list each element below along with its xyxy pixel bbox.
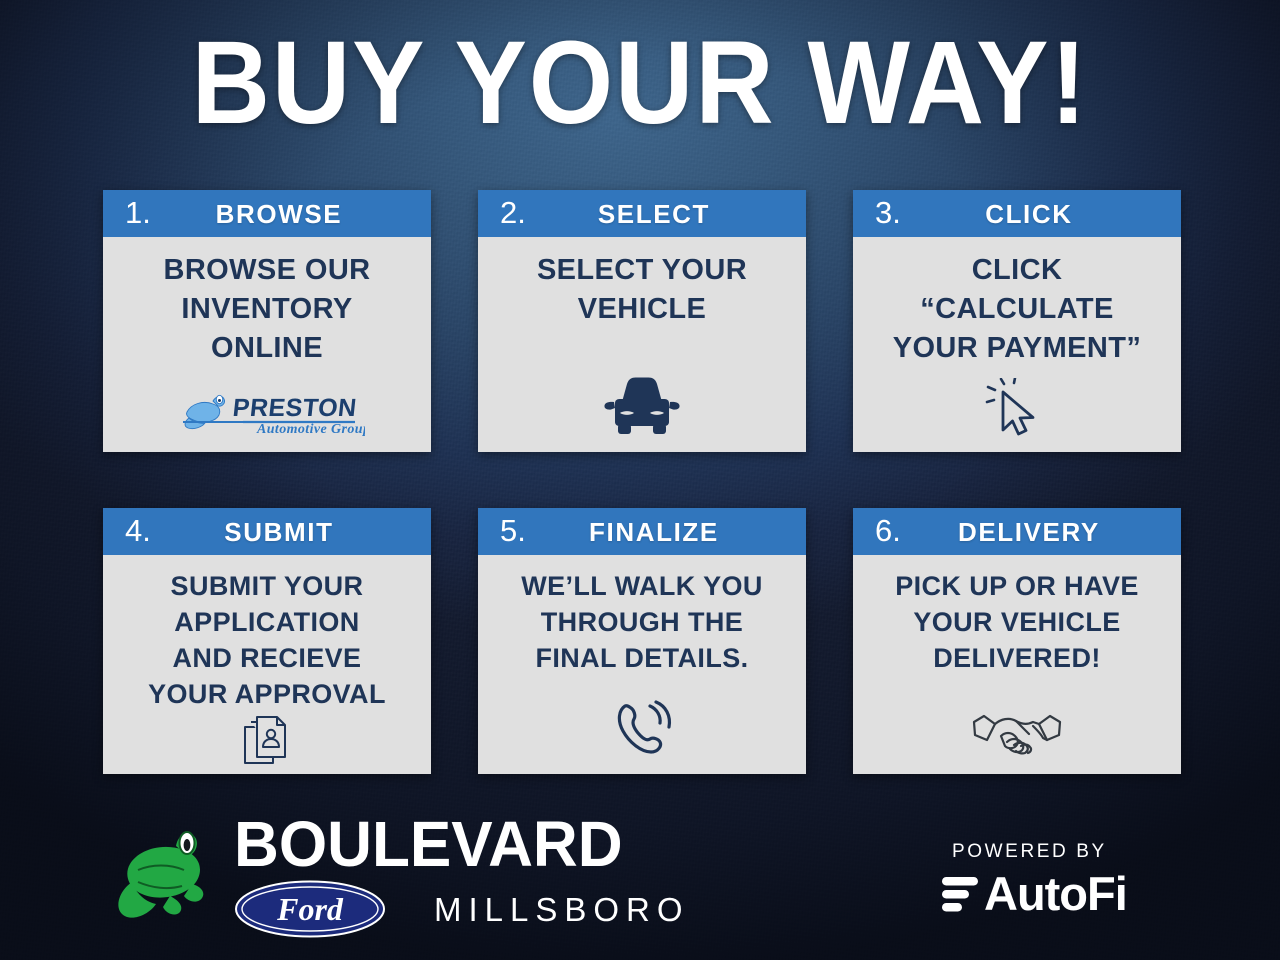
powered-by-label: POWERED BY — [952, 842, 1190, 861]
step-card-6-text: PICK UP OR HAVE YOUR VEHICLE DELIVERED! — [895, 569, 1139, 677]
dealer-city: MILLSBORO — [434, 893, 690, 926]
preston-automotive-group-logo: PRESTON Automotive Group — [169, 388, 365, 438]
step-card-5-graphic — [490, 698, 794, 760]
step-card-1: 1. BROWSE BROWSE OUR INVENTORY ONLINE — [103, 190, 431, 452]
step-card-3-text: CLICK “CALCULATE YOUR PAYMENT” — [893, 251, 1142, 368]
step-card-1-label: BROWSE — [151, 201, 421, 227]
application-document-icon — [239, 713, 295, 767]
step-card-2-graphic — [490, 372, 794, 438]
step-card-3: 3. CLICK CLICK “CALCULATE YOUR PAYMENT” — [853, 190, 1181, 452]
step-card-3-number: 3. — [875, 197, 901, 228]
autofi-wordmark: AutoFi — [984, 870, 1127, 917]
svg-text:PRESTON: PRESTON — [231, 394, 358, 422]
step-card-4-number: 4. — [125, 515, 151, 546]
step-card-4-header: 4. SUBMIT — [103, 508, 431, 555]
step-card-4-graphic — [115, 713, 419, 767]
step-card-2-label: SELECT — [526, 201, 796, 227]
step-card-3-body: CLICK “CALCULATE YOUR PAYMENT” — [853, 237, 1181, 452]
step-card-1-body: BROWSE OUR INVENTORY ONLINE PRES — [103, 237, 431, 452]
step-card-5-body: WE’LL WALK YOU THROUGH THE FINAL DETAILS… — [478, 555, 806, 774]
footer: BOULEVARD Ford MILLSBORO POWERED BY — [0, 806, 1280, 960]
step-card-5-label: FINALIZE — [526, 519, 796, 545]
step-card-4: 4. SUBMIT SUBMIT YOUR APPLICATION AND RE… — [103, 508, 431, 774]
click-cursor-icon — [983, 378, 1051, 438]
dealer-logo-block: BOULEVARD Ford MILLSBORO — [108, 814, 690, 938]
step-card-4-body: SUBMIT YOUR APPLICATION AND RECIEVE YOUR… — [103, 555, 431, 774]
step-card-6-header: 6. DELIVERY — [853, 508, 1181, 555]
car-icon — [600, 372, 684, 438]
handshake-icon — [971, 704, 1063, 760]
step-card-2: 2. SELECT SELECT YOUR VEHICLE — [478, 190, 806, 452]
autofi-logo: AutoFi — [940, 870, 1190, 917]
step-card-5-number: 5. — [500, 515, 526, 546]
page-title: BUY YOUR WAY! — [51, 28, 1229, 138]
dealer-subrow: Ford MILLSBORO — [234, 880, 690, 938]
svg-text:Automotive Group: Automotive Group — [256, 422, 365, 437]
step-card-3-header: 3. CLICK — [853, 190, 1181, 237]
powered-by-autofi-block: POWERED BY AutoFi — [940, 842, 1190, 917]
step-card-6-body: PICK UP OR HAVE YOUR VEHICLE DELIVERED! — [853, 555, 1181, 774]
step-card-5: 5. FINALIZE WE’LL WALK YOU THROUGH THE F… — [478, 508, 806, 774]
dealer-name: BOULEVARD — [234, 814, 676, 874]
step-card-2-number: 2. — [500, 197, 526, 228]
step-card-1-header: 1. BROWSE — [103, 190, 431, 237]
step-card-6: 6. DELIVERY PICK UP OR HAVE YOUR VEHICLE… — [853, 508, 1181, 774]
step-card-2-body: SELECT YOUR VEHICLE — [478, 237, 806, 452]
step-card-1-number: 1. — [125, 197, 151, 228]
step-card-6-graphic — [865, 704, 1169, 760]
step-card-2-header: 2. SELECT — [478, 190, 806, 237]
step-card-3-graphic — [865, 378, 1169, 438]
step-card-4-label: SUBMIT — [151, 519, 421, 545]
step-card-4-text: SUBMIT YOUR APPLICATION AND RECIEVE YOUR… — [148, 569, 386, 713]
step-card-3-label: CLICK — [901, 201, 1171, 227]
step-card-6-number: 6. — [875, 515, 901, 546]
ringing-phone-icon — [611, 698, 673, 760]
poster-content: BUY YOUR WAY! 1. BROWSE BROWSE OUR INVEN… — [0, 0, 1280, 960]
dealer-wordmark: BOULEVARD Ford MILLSBORO — [234, 814, 690, 938]
svg-text:Ford: Ford — [276, 891, 344, 927]
step-card-6-label: DELIVERY — [901, 519, 1171, 545]
step-card-2-text: SELECT YOUR VEHICLE — [537, 251, 747, 329]
step-card-5-header: 5. FINALIZE — [478, 508, 806, 555]
step-card-5-text: WE’LL WALK YOU THROUGH THE FINAL DETAILS… — [521, 569, 763, 677]
step-card-1-graphic: PRESTON Automotive Group — [115, 388, 419, 438]
step-card-1-text: BROWSE OUR INVENTORY ONLINE — [164, 251, 371, 368]
ford-logo: Ford — [234, 880, 386, 938]
green-frog-logo — [108, 820, 220, 932]
autofi-bars-icon — [940, 873, 980, 915]
poster-background: BUY YOUR WAY! 1. BROWSE BROWSE OUR INVEN… — [0, 0, 1280, 960]
